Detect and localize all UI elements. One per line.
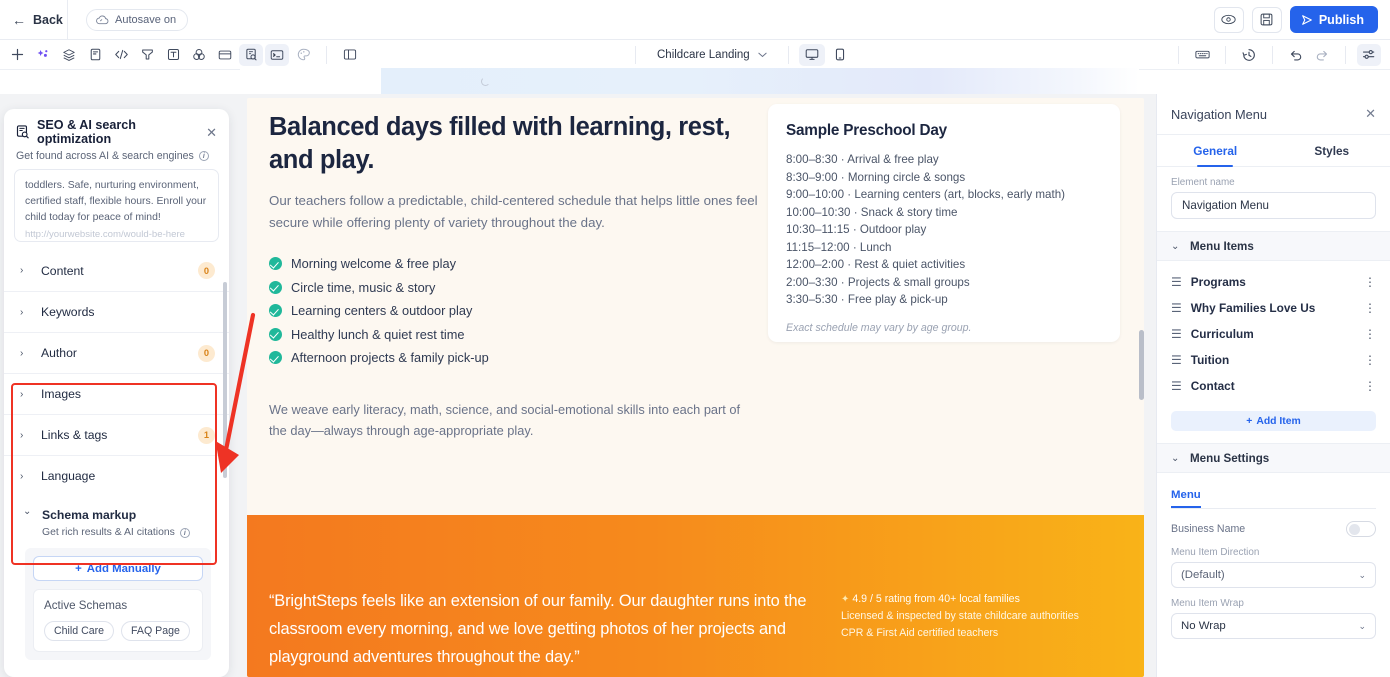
info-icon[interactable]: i bbox=[199, 151, 209, 161]
canvas-scrollbar[interactable] bbox=[1139, 330, 1144, 400]
mobile-icon[interactable] bbox=[827, 44, 853, 66]
feature-checklist: Morning welcome & free play Circle time,… bbox=[269, 256, 709, 374]
menu-item-wrap-field: Menu Item Wrap No Wrap ⌄ bbox=[1157, 588, 1390, 639]
testimonial-facts: ✦ 4.9 / 5 rating from 40+ local families… bbox=[841, 591, 1111, 643]
add-item-button[interactable]: + Add Item bbox=[1171, 411, 1376, 431]
business-name-label: Business Name bbox=[1171, 523, 1245, 535]
tab-general[interactable]: General bbox=[1157, 135, 1274, 166]
top-bar: ← Back Autosave on bbox=[0, 0, 1390, 40]
list-item: Learning centers & outdoor play bbox=[269, 303, 709, 318]
color-blend-icon[interactable] bbox=[187, 44, 211, 66]
chevron-down-icon bbox=[758, 52, 767, 58]
check-circle-icon bbox=[269, 304, 282, 317]
menu-items-section-header[interactable]: ⌄ Menu Items bbox=[1157, 231, 1390, 261]
section-label: Keywords bbox=[41, 305, 95, 319]
menu-item-wrap-label: Menu Item Wrap bbox=[1171, 598, 1376, 609]
menu-item-direction-field: Menu Item Direction (Default) ⌄ bbox=[1157, 537, 1390, 588]
send-icon bbox=[1301, 14, 1313, 26]
seo-title-row: SEO & AI search optimization ✕ bbox=[16, 118, 217, 146]
subtab-menu[interactable]: Menu bbox=[1171, 489, 1201, 508]
element-name-label: Element name bbox=[1171, 177, 1376, 188]
ai-sparkle-icon[interactable] bbox=[31, 44, 55, 66]
menu-settings-section-label: Menu Settings bbox=[1190, 452, 1269, 465]
check-circle-icon bbox=[269, 281, 282, 294]
add-item-label: Add Item bbox=[1256, 416, 1300, 427]
page-subheading: Our teachers follow a predictable, child… bbox=[269, 190, 763, 233]
list-item: Morning welcome & free play bbox=[269, 256, 709, 271]
preview-button[interactable] bbox=[1214, 7, 1244, 33]
fact-label: CPR & First Aid certified teachers bbox=[841, 625, 1111, 642]
code-icon[interactable] bbox=[109, 44, 133, 66]
list-item: Circle time, music & story bbox=[269, 280, 709, 295]
check-circle-icon bbox=[269, 257, 282, 270]
save-disk-icon bbox=[1260, 13, 1273, 26]
panel-tabs: General Styles bbox=[1157, 135, 1390, 167]
drag-handle-icon[interactable]: ☰ bbox=[1171, 354, 1182, 366]
chevron-down-icon: ⌄ bbox=[1171, 453, 1180, 464]
schema-chip-faq-page[interactable]: FAQ Page bbox=[121, 621, 190, 641]
menu-settings-section-header[interactable]: ⌄ Menu Settings bbox=[1157, 443, 1390, 473]
drag-handle-icon[interactable]: ☰ bbox=[1171, 276, 1182, 288]
page-name-label: Childcare Landing bbox=[657, 49, 750, 61]
direction-value: (Default) bbox=[1181, 569, 1225, 581]
menu-items-list: ☰ Programs ⋮ ☰ Why Families Love Us ⋮ ☰ … bbox=[1157, 261, 1390, 399]
device-switcher bbox=[799, 44, 853, 66]
checklist-label: Learning centers & outdoor play bbox=[291, 303, 472, 318]
chevron-right-icon: › bbox=[20, 265, 29, 276]
schedule-row: 2:00–3:30 · Projects & small groups bbox=[786, 274, 1120, 292]
loading-spinner-icon bbox=[481, 77, 490, 86]
drag-handle-icon[interactable]: ☰ bbox=[1171, 380, 1182, 392]
top-bar-actions: Publish bbox=[1214, 6, 1390, 33]
menu-item-label: Tuition bbox=[1191, 353, 1229, 367]
seo-panel-subtitle-row: Get found across AI & search engines i bbox=[16, 150, 217, 162]
panel-header: Navigation Menu ✕ bbox=[1157, 94, 1390, 135]
menu-item-wrap-select[interactable]: No Wrap ⌄ bbox=[1171, 613, 1376, 639]
settings-sliders-icon[interactable] bbox=[1357, 44, 1381, 66]
serp-preview-box: toddlers. Safe, nurturing environment, c… bbox=[14, 169, 219, 242]
keyboard-icon[interactable] bbox=[1190, 44, 1214, 66]
seo-panel-title: SEO & AI search optimization bbox=[37, 118, 199, 146]
status-badge: 0 bbox=[198, 345, 215, 362]
element-name-field: Element name Navigation Menu bbox=[1157, 167, 1390, 219]
editor-toolbar: Childcare Landing bbox=[0, 40, 1390, 70]
plus-icon[interactable] bbox=[5, 44, 29, 66]
page-heading: Balanced days filled with learning, rest… bbox=[269, 111, 769, 177]
active-schemas-card: Active Schemas Child Care FAQ Page bbox=[33, 589, 203, 652]
star-icon: ✦ bbox=[841, 594, 849, 605]
close-icon[interactable]: ✕ bbox=[1365, 106, 1376, 122]
desktop-icon[interactable] bbox=[799, 44, 825, 66]
menu-item-why-families-love-us[interactable]: ☰ Why Families Love Us ⋮ bbox=[1171, 295, 1376, 321]
split-panel-icon[interactable] bbox=[338, 44, 362, 66]
app-root: ← Back Autosave on bbox=[0, 0, 1390, 677]
seo-search-icon[interactable] bbox=[239, 44, 263, 66]
menu-item-label: Contact bbox=[1191, 379, 1235, 393]
palette-icon[interactable] bbox=[291, 44, 315, 66]
schedule-note: Exact schedule may vary by age group. bbox=[786, 322, 1120, 334]
schedule-row: 9:00–10:00 · Learning centers (art, bloc… bbox=[786, 186, 1120, 204]
back-button[interactable]: ← Back bbox=[0, 0, 68, 40]
section-label: Author bbox=[41, 346, 77, 360]
chevron-down-icon: ⌄ bbox=[1358, 570, 1366, 581]
more-options-icon[interactable]: ⋮ bbox=[1364, 354, 1376, 366]
plus-icon: + bbox=[1246, 416, 1252, 427]
check-circle-icon bbox=[269, 351, 282, 364]
page-paragraph-2: We weave early literacy, math, science, … bbox=[269, 399, 747, 441]
chevron-down-icon: ⌄ bbox=[1171, 241, 1180, 252]
more-options-icon[interactable]: ⋮ bbox=[1364, 380, 1376, 392]
page-icon[interactable] bbox=[83, 44, 107, 66]
eye-icon bbox=[1221, 14, 1236, 25]
menu-item-tuition[interactable]: ☰ Tuition ⋮ bbox=[1171, 347, 1376, 373]
menu-item-direction-label: Menu Item Direction bbox=[1171, 547, 1376, 558]
active-schemas-title: Active Schemas bbox=[44, 599, 192, 612]
serp-preview-url: http://yourwebsite.com/would-be-here bbox=[25, 229, 208, 240]
tab-styles[interactable]: Styles bbox=[1274, 135, 1390, 166]
save-button[interactable] bbox=[1252, 7, 1282, 33]
sidebar-item-author[interactable]: › Author 0 bbox=[4, 332, 229, 373]
schema-chip-child-care[interactable]: Child Care bbox=[44, 621, 114, 641]
toolbar-right-actions bbox=[1168, 44, 1390, 66]
fact-label: Licensed & inspected by state childcare … bbox=[841, 608, 1111, 625]
filter-funnel-icon[interactable] bbox=[135, 44, 159, 66]
schedule-row: 8:30–9:00 · Morning circle & songs bbox=[786, 169, 1120, 187]
checklist-label: Morning welcome & free play bbox=[291, 256, 456, 271]
list-item: Afternoon projects & family pick-up bbox=[269, 350, 709, 365]
panel-title: Navigation Menu bbox=[1171, 107, 1267, 122]
testimonial-band: “BrightSteps feels like an extension of … bbox=[247, 515, 1144, 677]
list-item: Healthy lunch & quiet rest time bbox=[269, 327, 709, 342]
back-arrow-icon: ← bbox=[12, 13, 26, 27]
fact-rating: ✦ 4.9 / 5 rating from 40+ local families bbox=[841, 591, 1111, 608]
menu-item-label: Programs bbox=[1191, 275, 1246, 289]
element-name-input[interactable]: Navigation Menu bbox=[1171, 192, 1376, 219]
drag-handle-icon[interactable]: ☰ bbox=[1171, 302, 1182, 314]
schedule-row: 12:00–2:00 · Rest & quiet activities bbox=[786, 256, 1120, 274]
loading-strip-blank bbox=[240, 68, 381, 94]
publish-label: Publish bbox=[1319, 13, 1364, 27]
business-name-toggle[interactable] bbox=[1346, 521, 1376, 537]
container-icon[interactable] bbox=[213, 44, 237, 66]
drag-handle-icon[interactable]: ☰ bbox=[1171, 328, 1182, 340]
schedule-list: 8:00–8:30 · Arrival & free play 8:30–9:0… bbox=[786, 151, 1120, 309]
fact-label: 4.9 / 5 rating from 40+ local families bbox=[852, 593, 1020, 605]
text-box-icon[interactable] bbox=[161, 44, 185, 66]
status-badge: 0 bbox=[198, 262, 215, 279]
toolbar-divider bbox=[326, 46, 327, 64]
testimonial-quote: “BrightSteps feels like an extension of … bbox=[269, 587, 829, 672]
section-label: Content bbox=[41, 264, 84, 278]
checklist-label: Healthy lunch & quiet rest time bbox=[291, 327, 465, 342]
schedule-row: 10:30–11:15 · Outdoor play bbox=[786, 221, 1120, 239]
page-canvas[interactable]: Balanced days filled with learning, rest… bbox=[247, 98, 1144, 677]
schedule-row: 3:30–5:30 · Free play & pick-up bbox=[786, 291, 1120, 309]
business-name-row: Business Name bbox=[1157, 509, 1390, 537]
undo-icon[interactable] bbox=[1284, 44, 1308, 66]
more-options-icon[interactable]: ⋮ bbox=[1364, 302, 1376, 314]
autosave-status: Autosave on bbox=[86, 9, 188, 31]
cloud-icon bbox=[96, 15, 109, 25]
loading-strip bbox=[381, 68, 1139, 94]
menu-item-label: Why Families Love Us bbox=[1191, 301, 1316, 315]
sidebar-item-content[interactable]: › Content 0 bbox=[4, 250, 229, 291]
active-schema-chips: Child Care FAQ Page bbox=[44, 621, 192, 641]
history-clock-icon[interactable] bbox=[1237, 44, 1261, 66]
menu-item-direction-select[interactable]: (Default) ⌄ bbox=[1171, 562, 1376, 588]
autosave-label: Autosave on bbox=[115, 14, 176, 26]
toolbar-divider-3 bbox=[788, 46, 789, 64]
schema-highlight-box bbox=[11, 383, 217, 565]
check-circle-icon bbox=[269, 328, 282, 341]
menu-item-contact[interactable]: ☰ Contact ⋮ bbox=[1171, 373, 1376, 399]
serp-preview-text: toddlers. Safe, nurturing environment, c… bbox=[25, 178, 208, 225]
toolbar-divider-2 bbox=[635, 46, 636, 64]
seo-panel-scrollbar[interactable] bbox=[223, 282, 227, 478]
menu-item-programs[interactable]: ☰ Programs ⋮ bbox=[1171, 269, 1376, 295]
redo-icon[interactable] bbox=[1310, 44, 1334, 66]
wrap-value: No Wrap bbox=[1181, 620, 1226, 632]
menu-item-label: Curriculum bbox=[1191, 327, 1254, 341]
more-options-icon[interactable]: ⋮ bbox=[1364, 328, 1376, 340]
seo-panel-subtitle: Get found across AI & search engines bbox=[16, 150, 194, 162]
menu-item-curriculum[interactable]: ☰ Curriculum ⋮ bbox=[1171, 321, 1376, 347]
chevron-down-icon: ⌄ bbox=[1358, 621, 1366, 632]
seo-panel-header: SEO & AI search optimization ✕ Get found… bbox=[4, 109, 229, 162]
schedule-row: 8:00–8:30 · Arrival & free play bbox=[786, 151, 1120, 169]
menu-subtab-bar: Menu bbox=[1157, 473, 1390, 508]
more-options-icon[interactable]: ⋮ bbox=[1364, 276, 1376, 288]
checklist-label: Circle time, music & story bbox=[291, 280, 435, 295]
sidebar-item-keywords[interactable]: › Keywords bbox=[4, 291, 229, 332]
close-icon[interactable]: ✕ bbox=[206, 126, 217, 139]
terminal-icon[interactable] bbox=[265, 44, 289, 66]
checklist-label: Afternoon projects & family pick-up bbox=[291, 350, 489, 365]
chevron-right-icon: › bbox=[20, 348, 29, 359]
schedule-title: Sample Preschool Day bbox=[786, 122, 1120, 140]
schedule-row: 10:00–10:30 · Snack & story time bbox=[786, 204, 1120, 222]
back-label: Back bbox=[33, 13, 63, 27]
chevron-right-icon: › bbox=[20, 307, 29, 318]
schedule-row: 11:15–12:00 · Lunch bbox=[786, 239, 1120, 257]
layers-icon[interactable] bbox=[57, 44, 81, 66]
schedule-card: Sample Preschool Day 8:00–8:30 · Arrival… bbox=[768, 104, 1120, 342]
menu-items-section-label: Menu Items bbox=[1190, 240, 1254, 253]
page-selector[interactable]: Childcare Landing bbox=[646, 44, 778, 66]
navigation-menu-panel: Navigation Menu ✕ General Styles Element… bbox=[1156, 94, 1390, 677]
publish-button[interactable]: Publish bbox=[1290, 6, 1378, 33]
seo-search-icon bbox=[16, 125, 30, 139]
